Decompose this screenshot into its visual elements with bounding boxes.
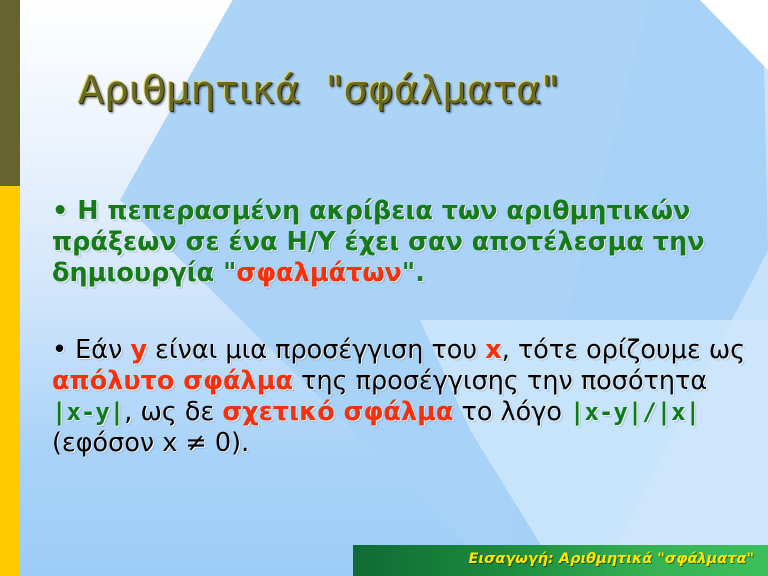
bullet-paragraph-2: • Εάν y είναι μια προσέγγιση του x, τότε…	[52, 335, 752, 459]
paragraph-1-highlight: σφαλμάτων	[236, 258, 402, 288]
slide-title: Αριθμητικά "σφάλματα"	[78, 68, 718, 112]
paragraph-2-mid-4: , ως δε	[124, 397, 222, 427]
paragraph-2-mid-5: το λόγο	[453, 397, 570, 427]
paragraph-2-lead: Εάν	[67, 335, 130, 365]
paragraph-1-part-2: ".	[402, 258, 425, 288]
paragraph-2-mid-2: , τότε ορίζουμε ως	[502, 335, 745, 365]
term-absolute-error: απόλυτο σφάλμα	[52, 366, 293, 396]
sidebar-accent-top	[0, 0, 20, 186]
slide: Αριθμητικά "σφάλματα" • Η πεπερασμένη ακ…	[0, 0, 768, 576]
footer-label: Εισαγωγή: Αριθμητικά "σφάλματα"	[469, 551, 754, 567]
variable-x: x	[485, 335, 501, 365]
paragraph-2-mid-1: είναι μια προσέγγιση του	[147, 335, 485, 365]
bullet-marker-2: •	[52, 335, 67, 365]
bullet-paragraph-1: • Η πεπερασμένη ακρίβεια των αριθμητικών…	[52, 196, 752, 289]
formula-relative-error: |x-y|/|x|	[570, 398, 700, 426]
bullet-marker-1: •	[52, 196, 68, 226]
formula-absolute-error: |x-y|	[52, 398, 124, 426]
term-relative-error: σχετικό σφάλμα	[222, 397, 453, 427]
footer-bar: Εισαγωγή: Αριθμητικά "σφάλματα"	[353, 545, 768, 576]
sidebar-accent-bottom	[0, 186, 20, 576]
paragraph-2-mid-3: της προσέγγισης την ποσότητα	[293, 366, 707, 396]
condition-text: (εφόσον x ≠ 0).	[52, 428, 249, 458]
variable-y: y	[130, 335, 147, 365]
